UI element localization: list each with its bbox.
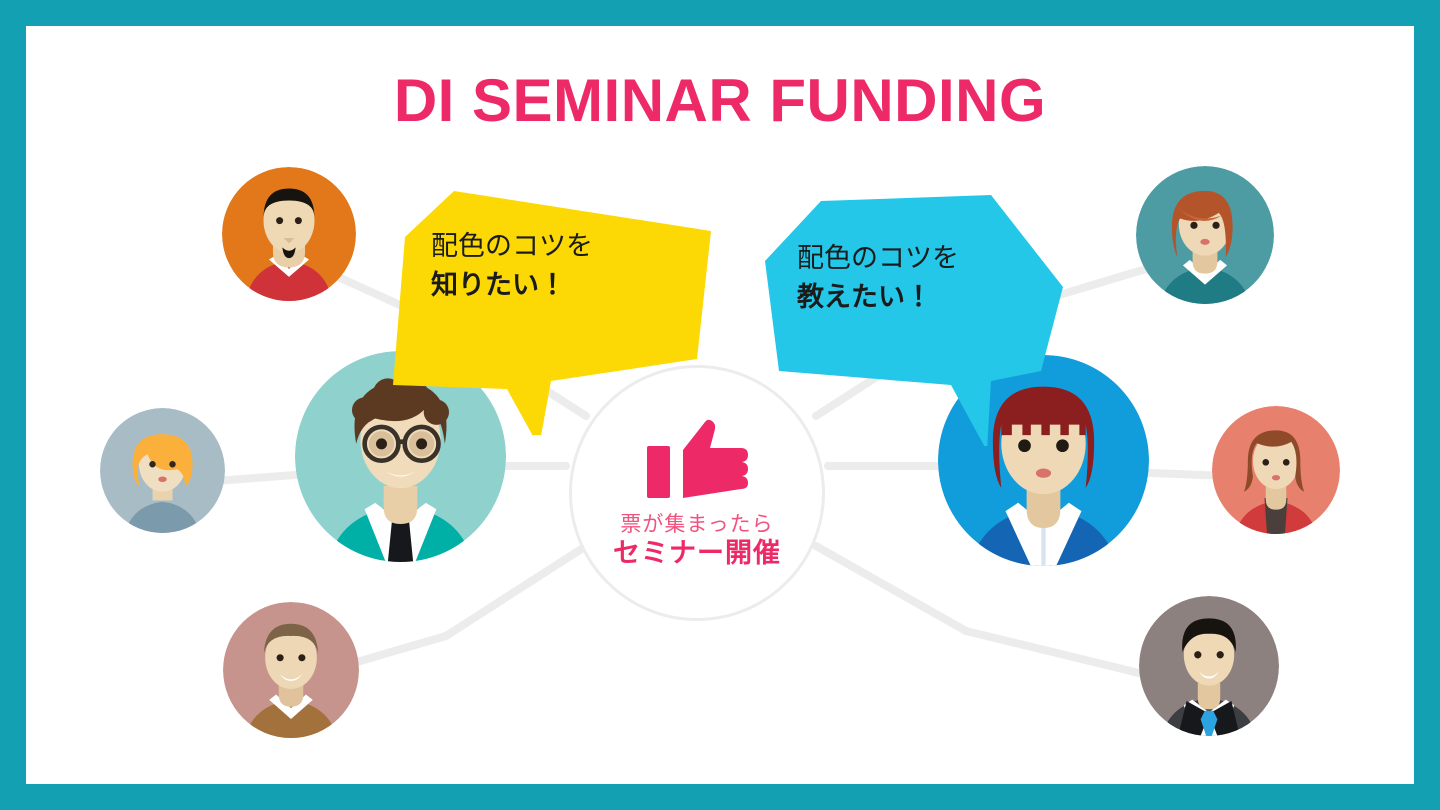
bubble-right-line1: 配色のコツを: [797, 239, 1075, 278]
avatar-mid-right[interactable]: [1212, 406, 1340, 534]
bubble-right-line2: 教えたい！: [797, 278, 1075, 317]
avatar-top-right[interactable]: [1136, 166, 1274, 304]
speech-bubble-right-text: 配色のコツを 教えたい！: [755, 191, 1075, 317]
bubble-left-line1: 配色のコツを: [431, 227, 719, 266]
bubble-left-line2: 知りたい！: [431, 266, 719, 305]
center-hub[interactable]: 票が集まったら セミナー開催: [569, 365, 825, 621]
slide-canvas: DI SEMINAR FUNDING: [0, 0, 1440, 810]
avatar-top-left[interactable]: [222, 167, 356, 301]
hub-line-2: セミナー開催: [613, 537, 781, 569]
speech-bubble-want-to-teach[interactable]: 配色のコツを 教えたい！: [755, 191, 1075, 446]
thumbs-up-icon: [645, 416, 749, 507]
speech-bubble-left-text: 配色のコツを 知りたい！: [379, 185, 719, 305]
avatar-mid-left[interactable]: [100, 408, 225, 533]
slide-inner-canvas: DI SEMINAR FUNDING: [26, 26, 1414, 784]
avatar-bottom-right[interactable]: [1139, 596, 1279, 736]
avatar-bottom-left[interactable]: [223, 602, 359, 738]
hub-line-1: 票が集まったら: [620, 513, 773, 537]
